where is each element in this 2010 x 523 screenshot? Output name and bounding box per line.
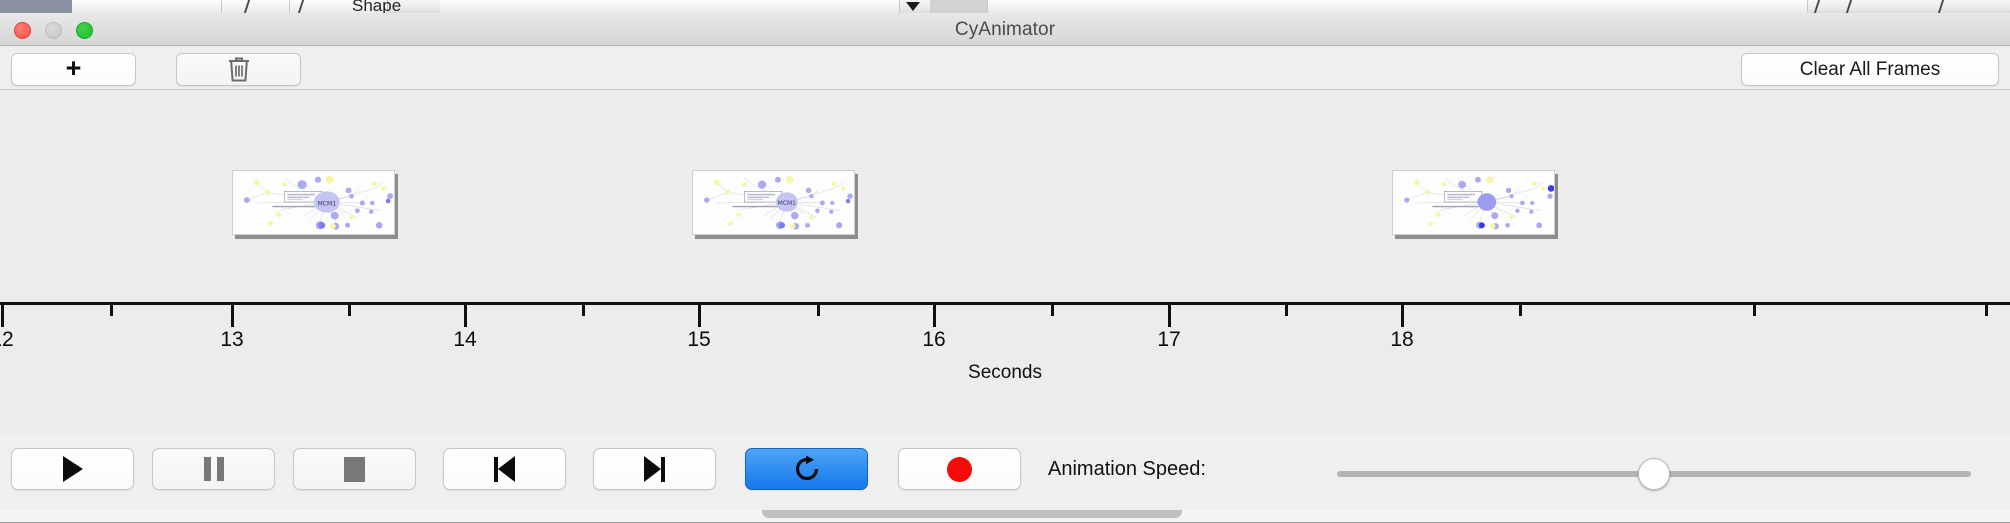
background-selected-tab [0,0,72,13]
loop-icon [792,454,822,484]
ruler-label: 17 [1157,328,1180,352]
background-tab [72,0,222,13]
ruler-tick-minor [817,305,820,316]
background-window-strip: Shape [0,0,2010,13]
network-thumbnail-graphic [1393,171,1554,234]
ruler-tick-major [698,305,701,327]
background-tab [440,0,900,13]
delete-frame-button[interactable] [176,53,301,86]
timeline-ruler[interactable]: 12 13 14 15 16 17 18 [0,302,2010,357]
playback-control-bar: Animation Speed: [0,434,2010,510]
table-row[interactable]: MCM1 [232,170,395,235]
table-row[interactable] [1392,170,1555,235]
ruler-tick-major [464,305,467,327]
record-button[interactable] [898,448,1021,490]
network-thumbnail-graphic: MCM1 [233,171,394,234]
background-caret-icon [906,2,920,11]
skip-to-end-button[interactable] [593,448,716,490]
ruler-tick-minor [110,305,113,316]
play-button[interactable] [11,448,134,490]
plus-icon: + [66,55,82,82]
thumbnail-image: MCM1 [692,170,855,235]
play-icon [63,456,83,482]
add-frame-button[interactable]: + [11,53,136,86]
ruler-tick-minor [348,305,351,316]
trash-icon [227,56,251,83]
svg-text:MCM1: MCM1 [778,201,796,207]
stop-icon [344,457,365,482]
ruler-tick-minor [1519,305,1522,316]
pause-icon [204,457,224,481]
ruler-tick-minor [1051,305,1054,316]
background-glyph [1814,0,1820,13]
ruler-tick-minor [1285,305,1288,316]
frames-track[interactable]: MCM1 [0,90,2010,302]
slider-thumb[interactable] [1638,458,1670,490]
ruler-label: 15 [687,328,710,352]
ruler-label: 12 [0,328,14,352]
thumbnail-image [1392,170,1555,235]
ruler-tick-major [231,305,234,327]
ruler-tick-minor [1753,305,1756,316]
skip-to-start-button[interactable] [443,448,566,490]
background-window-label: Shape [352,0,401,12]
skip-back-icon [494,456,515,482]
ruler-tick-major [933,305,936,327]
stop-button[interactable] [293,448,416,490]
pause-button[interactable] [152,448,275,490]
axis-title: Seconds [0,362,2010,384]
ruler-axis-line [0,302,2010,305]
window-title-bar: CyAnimator [0,13,2010,46]
record-icon [947,457,972,482]
background-tab [988,0,1808,13]
svg-text:MCM1: MCM1 [317,200,336,207]
network-thumbnail-graphic: MCM1 [693,171,854,234]
ruler-tick-major [1168,305,1171,327]
clear-all-frames-label: Clear All Frames [1800,59,1940,81]
ruler-label: 13 [220,328,243,352]
toolbar: + Clear All Frames [0,46,2010,90]
ruler-tick-major [1401,305,1404,327]
skip-forward-icon [644,456,665,482]
loop-button[interactable] [745,448,868,490]
animation-speed-label: Animation Speed: [1048,458,1206,481]
background-tab [222,0,290,13]
background-glyph [1846,0,1852,13]
ruler-tick-major [1,305,4,327]
ruler-label: 18 [1390,328,1413,352]
timeline-panel[interactable]: MCM1 [0,90,2010,407]
ruler-label: 14 [453,328,476,352]
animation-speed-slider[interactable] [1337,467,1971,481]
background-glyph [1938,0,1944,13]
clear-all-frames-button[interactable]: Clear All Frames [1741,53,1999,86]
ruler-tick-minor [582,305,585,316]
table-row[interactable]: MCM1 [692,170,855,235]
background-tab [930,0,988,13]
ruler-tick-minor [1985,305,1988,316]
window-title: CyAnimator [0,19,2010,41]
thumbnail-image: MCM1 [232,170,395,235]
ruler-label: 16 [922,328,945,352]
